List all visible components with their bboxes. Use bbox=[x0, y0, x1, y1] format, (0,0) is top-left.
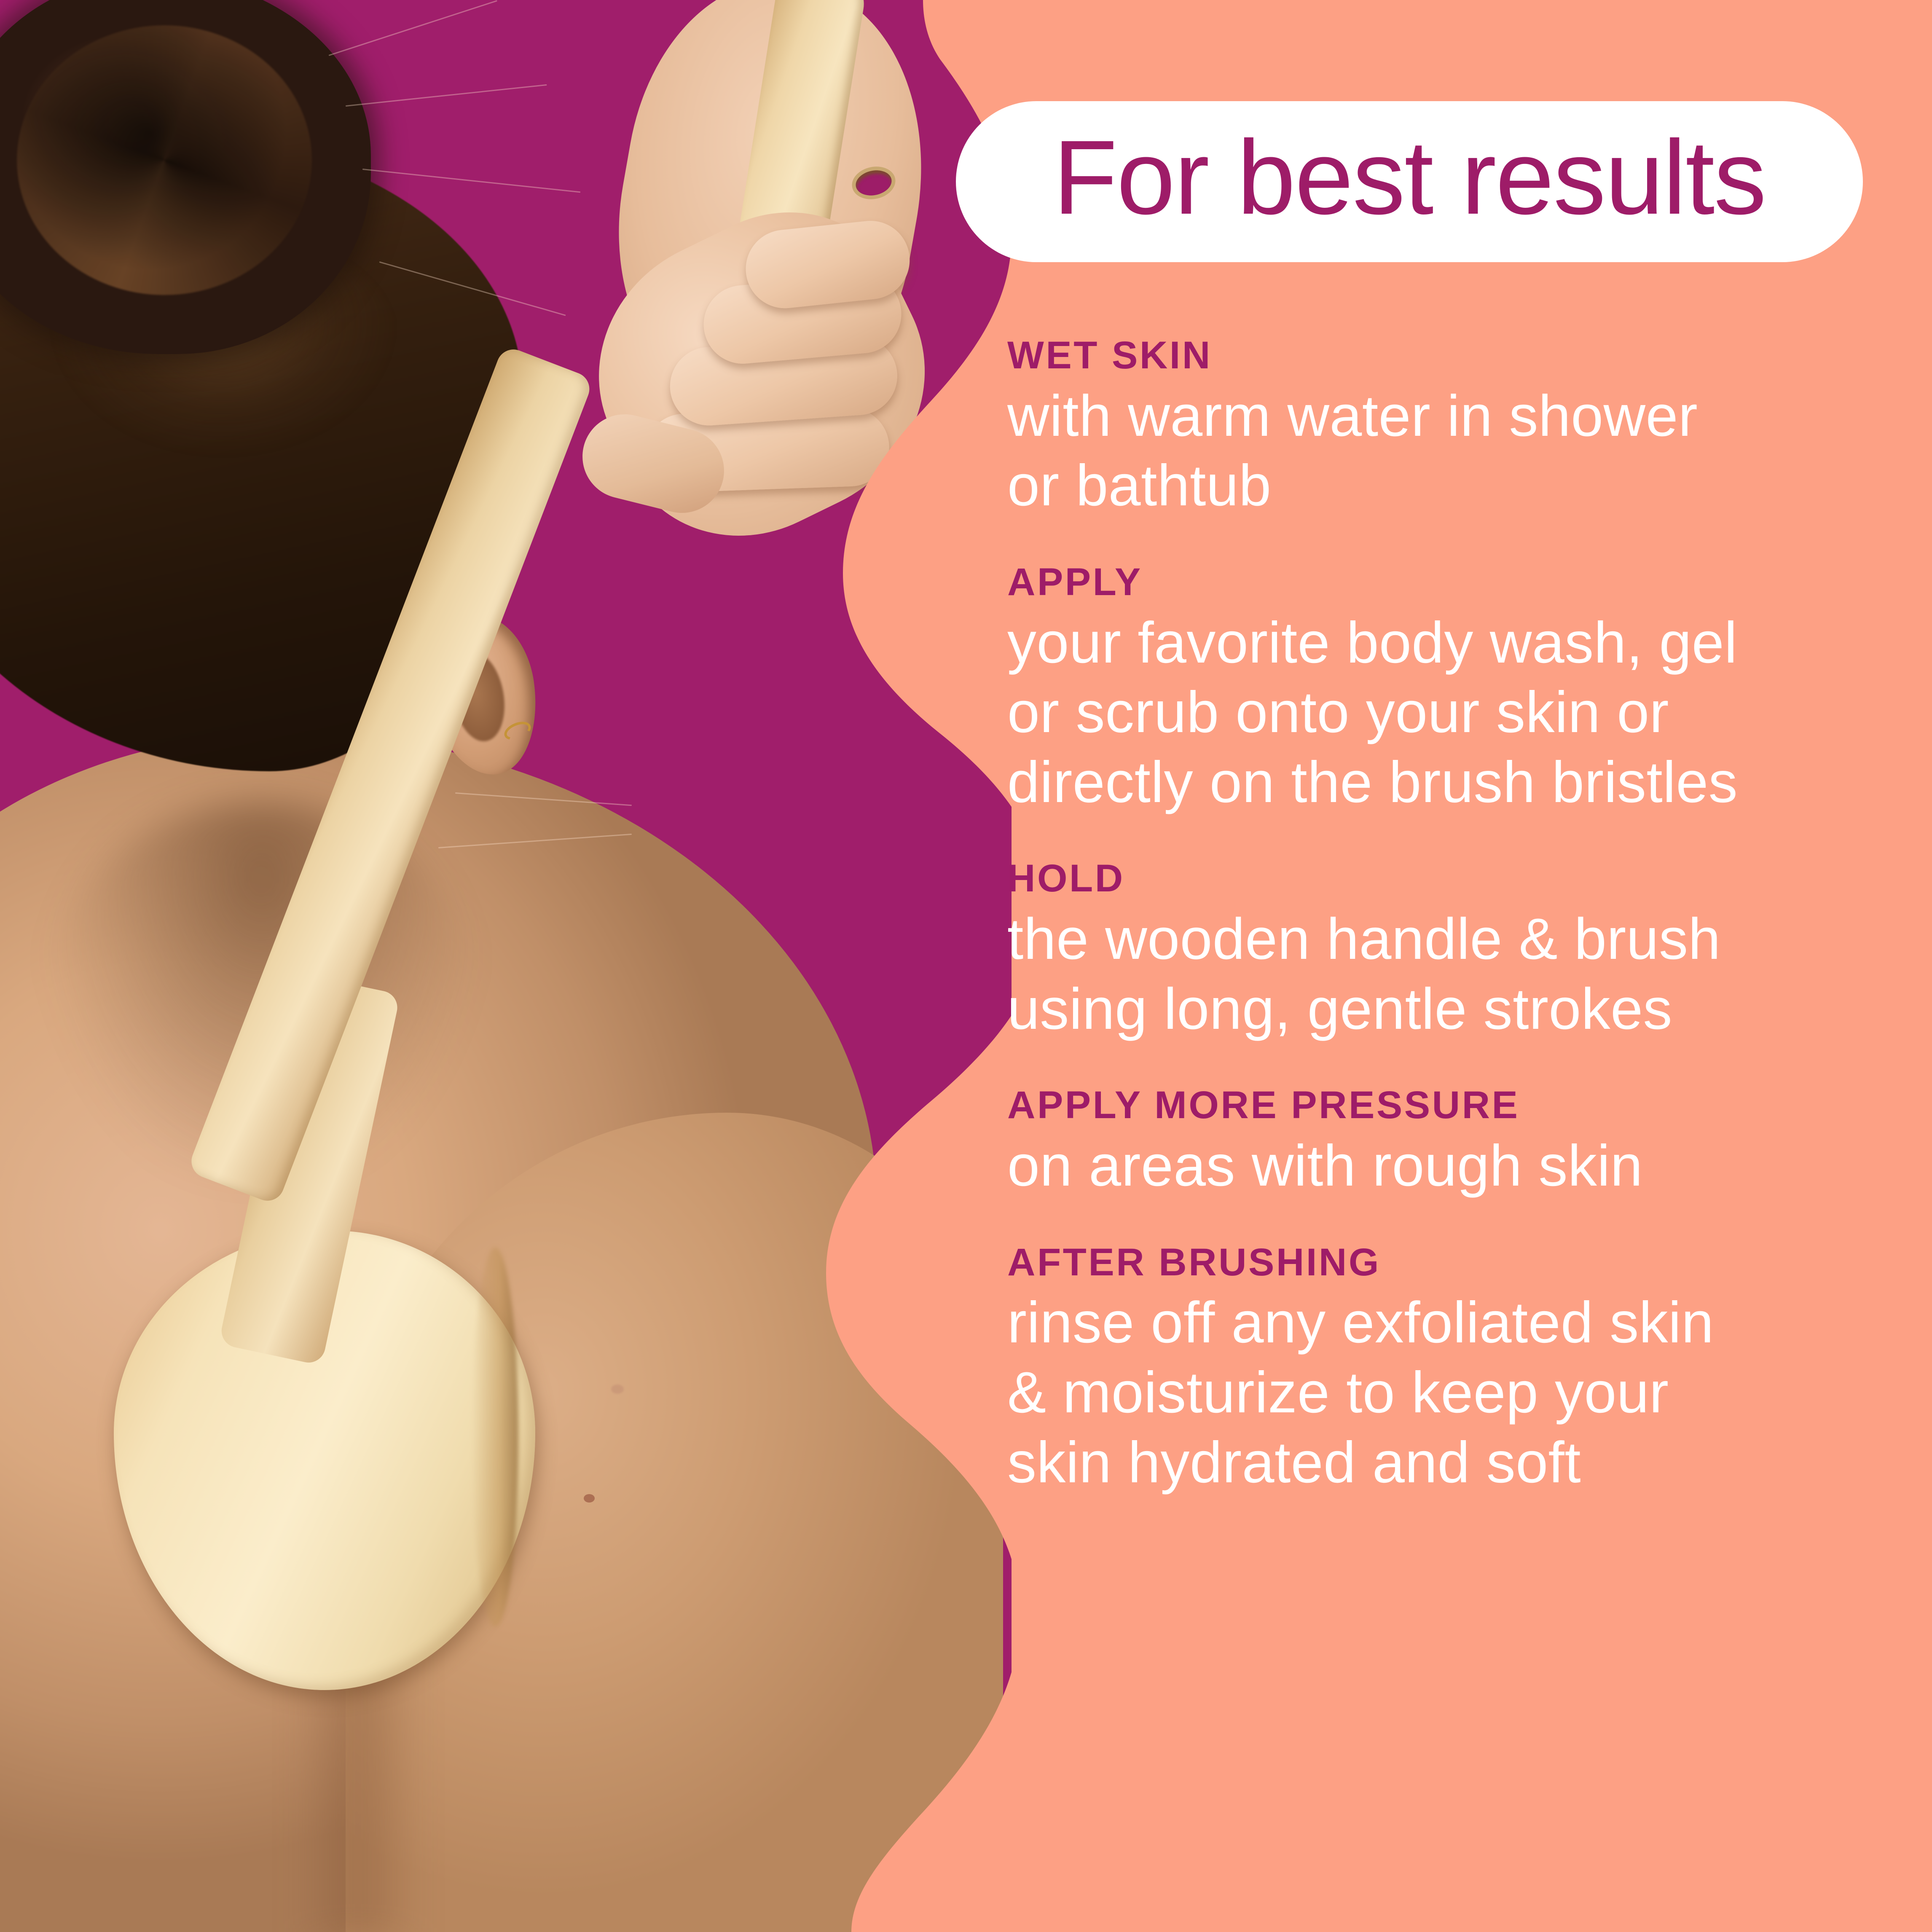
instruction-step-apply-more-pressure: APPLY MORE PRESSURE on areas with rough … bbox=[1007, 1083, 1905, 1201]
lifestyle-photo bbox=[0, 0, 1012, 1932]
step-line: using long, gentle strokes bbox=[1007, 974, 1905, 1044]
instruction-step-wet-skin: WET SKIN with warm water in shower or ba… bbox=[1007, 333, 1905, 521]
step-body: with warm water in shower or bathtub bbox=[1007, 381, 1905, 521]
step-line: your favorite body wash, gel bbox=[1007, 608, 1905, 678]
step-label: APPLY MORE PRESSURE bbox=[1007, 1083, 1905, 1128]
step-label: APPLY bbox=[1007, 560, 1905, 605]
step-body: your favorite body wash, gel or scrub on… bbox=[1007, 608, 1905, 818]
step-body: the wooden handle & brush using long, ge… bbox=[1007, 904, 1905, 1044]
step-label: AFTER BRUSHING bbox=[1007, 1240, 1905, 1285]
instruction-list: WET SKIN with warm water in shower or ba… bbox=[1007, 333, 1905, 1497]
step-line: on areas with rough skin bbox=[1007, 1131, 1905, 1201]
hair-bun-twist bbox=[17, 25, 312, 295]
step-line: directly on the brush bristles bbox=[1007, 748, 1905, 818]
step-label: WET SKIN bbox=[1007, 333, 1905, 378]
step-line: the wooden handle & brush bbox=[1007, 904, 1905, 974]
instruction-step-apply: APPLY your favorite body wash, gel or sc… bbox=[1007, 560, 1905, 818]
skin-mark bbox=[584, 1494, 595, 1503]
brush-head-edge bbox=[472, 1248, 518, 1627]
product-instruction-card: For best results WET SKIN with warm wate… bbox=[0, 0, 1932, 1932]
heading-pill: For best results bbox=[956, 101, 1863, 262]
step-label: HOLD bbox=[1007, 856, 1905, 901]
step-line: rinse off any exfoliated skin bbox=[1007, 1288, 1905, 1358]
instruction-step-hold: HOLD the wooden handle & brush using lon… bbox=[1007, 856, 1905, 1044]
instruction-step-after-brushing: AFTER BRUSHING rinse off any exfoliated … bbox=[1007, 1240, 1905, 1498]
step-body: on areas with rough skin bbox=[1007, 1131, 1905, 1201]
skin-mark bbox=[611, 1385, 624, 1394]
step-line: or scrub onto your skin or bbox=[1007, 678, 1905, 748]
page-title: For best results bbox=[1053, 125, 1766, 230]
step-line: & moisturize to keep your bbox=[1007, 1358, 1905, 1428]
step-line: with warm water in shower bbox=[1007, 381, 1905, 451]
step-body: rinse off any exfoliated skin & moisturi… bbox=[1007, 1288, 1905, 1497]
step-line: skin hydrated and soft bbox=[1007, 1428, 1905, 1498]
step-line: or bathtub bbox=[1007, 451, 1905, 521]
